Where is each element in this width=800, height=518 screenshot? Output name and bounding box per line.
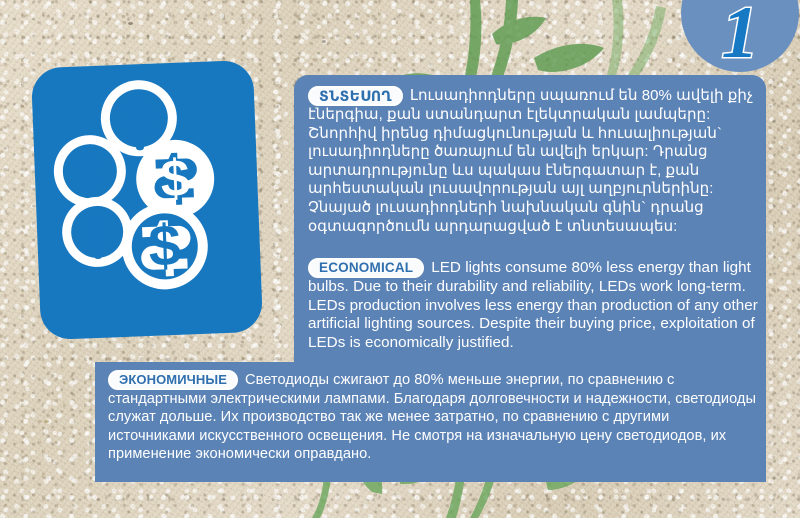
paper-fleck xyxy=(322,40,326,43)
dollar-sign-glyph: $ xyxy=(125,92,153,145)
dollar-coins-icon: $ $ $ $ $ xyxy=(31,60,263,340)
label-armenian: ՏՆՏԵՍՈՂ xyxy=(308,86,403,106)
page-number: 1 xyxy=(681,0,799,70)
infographic-page: 1 xyxy=(0,0,800,518)
paper-fleck xyxy=(128,22,133,25)
dollar-sign-glyph: $ xyxy=(77,148,103,198)
dollar-sign-glyph: $ xyxy=(147,213,182,279)
dollar-sign-glyph: $ xyxy=(85,210,110,258)
label-russian: ЭКОНОМИЧНЫЕ xyxy=(108,370,238,390)
section-english: ECONOMICALLED lights consume 80% less en… xyxy=(308,258,760,352)
paper-fleck xyxy=(44,420,49,423)
section-russian: ЭКОНОМИЧНЫЕСветодиоды сжигают до 80% мен… xyxy=(108,370,758,464)
section-armenian: ՏՆՏԵՍՈՂԼուսադիոդները սպառում են 80% ավել… xyxy=(308,86,760,236)
label-english: ECONOMICAL xyxy=(308,258,424,278)
text-armenian: Լուսադիոդները սպառում են 80% ավելի քիչ է… xyxy=(308,87,753,235)
dollar-sign-glyph: $ xyxy=(160,149,191,208)
dollar-coins-tile: $ $ $ $ $ xyxy=(31,60,263,340)
